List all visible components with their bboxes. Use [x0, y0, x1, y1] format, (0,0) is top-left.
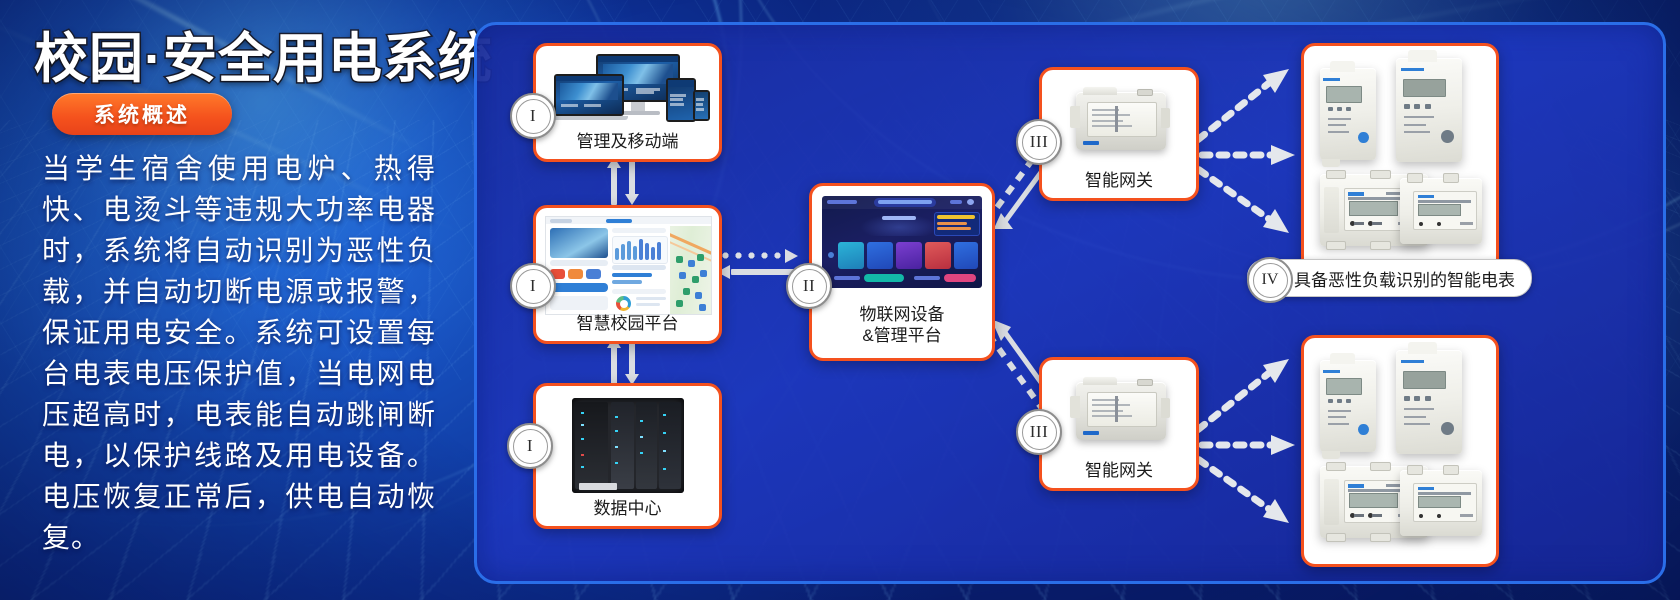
section-badge: 系统概述: [52, 93, 232, 135]
node-card-data-center[interactable]: 数据中心: [533, 383, 722, 529]
node-card-gateway-bottom[interactable]: 智能网关: [1039, 357, 1199, 491]
system-architecture-diagram: 管理及移动端 I: [474, 22, 1666, 584]
numeral-text: I: [527, 436, 533, 456]
node-card-smart-campus[interactable]: 智慧校园平台: [533, 205, 722, 344]
node-label-gateway-bottom: 智能网关: [1042, 460, 1196, 481]
meter-panel-bottom[interactable]: [1301, 335, 1499, 567]
numeral-text: III: [1030, 422, 1048, 442]
node-label-iot-platform-line2: &管理平台: [812, 325, 992, 346]
numeral-text: I: [530, 106, 536, 126]
connector-campus-datacenter: [607, 337, 641, 385]
node-label-admin-mobile: 管理及移动端: [536, 131, 719, 152]
numeral-text: II: [803, 276, 815, 296]
node-label-smart-campus: 智慧校园平台: [536, 313, 719, 334]
server-rack-illustration: [572, 398, 684, 493]
node-label-iot-platform-line1: 物联网设备: [812, 304, 992, 325]
node-card-gateway-top[interactable]: 智能网关: [1039, 67, 1199, 201]
numeral-text: III: [1030, 132, 1048, 152]
numeral-badge-admin-mobile: I: [510, 93, 556, 139]
page-title: 校园·安全用电系统: [34, 14, 493, 93]
gateway-device-illustration-bottom: [1070, 374, 1170, 444]
numeral-text: IV: [1262, 271, 1279, 289]
smart-meter-type-a-bottom: [1320, 360, 1376, 452]
section-badge-label: 系统概述: [94, 99, 190, 129]
description-text: 当学生宿舍使用电炉、热得快、电烫斗等违规大功率电器时，系统将自动识别为恶性负载，…: [42, 148, 436, 558]
intro-panel: 校园·安全用电系统 系统概述 当学生宿舍使用电炉、热得快、电烫斗等违规大功率电器…: [0, 0, 470, 600]
smart-meter-type-a-bottom-right: [1396, 350, 1462, 454]
connector-admin-campus: [607, 157, 641, 205]
devices-illustration: [548, 52, 708, 124]
smart-meter-type-a-top: [1320, 68, 1376, 160]
callout-smart-meter[interactable]: IV 具备恶性负载识别的智能电表: [1247, 259, 1532, 297]
node-card-admin-mobile[interactable]: 管理及移动端: [533, 43, 722, 162]
node-label-iot-platform-wrap: 物联网设备 &管理平台: [812, 304, 992, 346]
iot-dashboard-thumbnail: [822, 196, 982, 288]
node-card-iot-platform[interactable]: 物联网设备 &管理平台: [809, 183, 995, 361]
node-label-data-center: 数据中心: [536, 498, 719, 519]
numeral-badge-callout: IV: [1247, 257, 1293, 303]
callout-label: 具备恶性负载识别的智能电表: [1294, 266, 1515, 291]
numeral-badge-smart-campus: I: [510, 263, 556, 309]
meter-panel-top[interactable]: [1301, 43, 1499, 275]
numeral-badge-gateway-bottom: III: [1016, 409, 1062, 455]
campus-dashboard-thumbnail: [545, 216, 712, 315]
node-label-gateway-top: 智能网关: [1042, 170, 1196, 191]
numeral-text: I: [530, 276, 536, 296]
numeral-badge-gateway-top: III: [1016, 119, 1062, 165]
numeral-badge-data-center: I: [507, 423, 553, 469]
smart-meter-type-b-top-right: [1400, 178, 1482, 244]
gateway-device-illustration-top: [1070, 84, 1170, 154]
numeral-badge-iot-platform: II: [786, 263, 832, 309]
smart-meter-type-a-top-right: [1396, 58, 1462, 162]
smart-meter-type-b-bottom-right: [1400, 470, 1482, 536]
